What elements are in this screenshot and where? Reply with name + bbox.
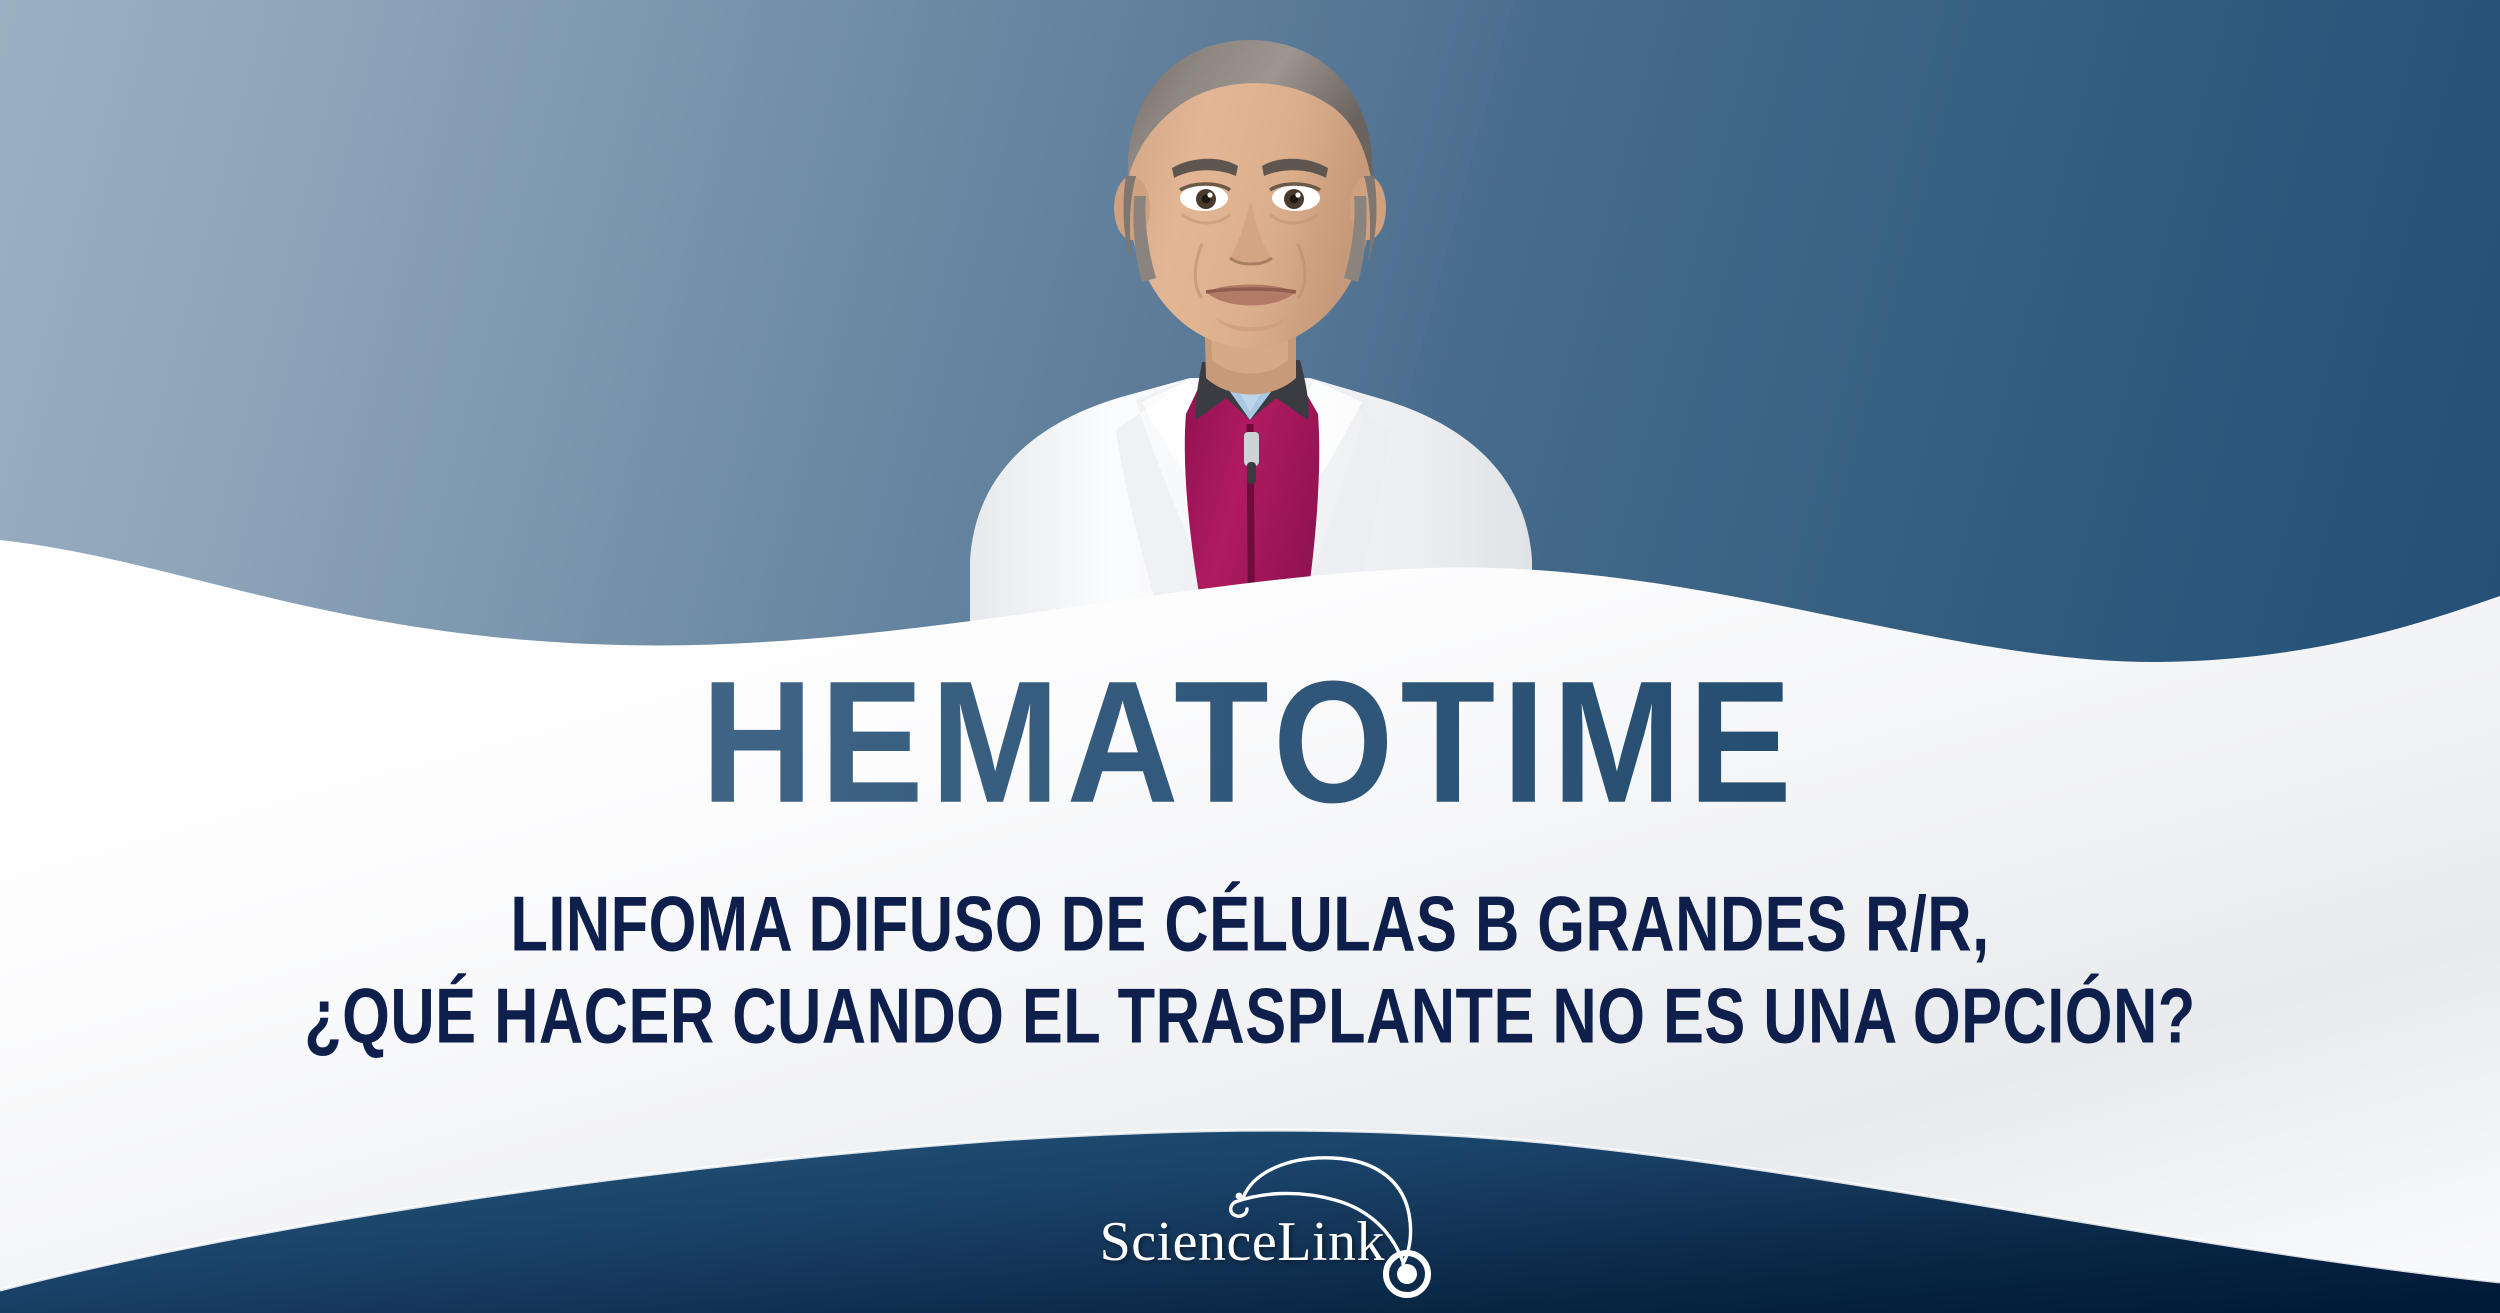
title-block: HEMATOTIME LINFOMA DIFUSO DE CÉLULAS B G… bbox=[0, 655, 2500, 1024]
physician-portrait bbox=[930, 0, 1570, 680]
episode-subtitle: LINFOMA DIFUSO DE CÉLULAS B GRANDES R/R,… bbox=[88, 810, 2413, 1062]
subtitle-line-1: LINFOMA DIFUSO DE CÉLULAS B GRANDES R/R, bbox=[88, 878, 2413, 970]
subtitle-line-2: ¿QUÉ HACER CUANDO EL TRASPLANTE NO ES UN… bbox=[88, 970, 2413, 1062]
sciencelink-logo[interactable]: ScienceLink bbox=[1085, 1158, 1485, 1308]
poster-canvas: HEMATOTIME LINFOMA DIFUSO DE CÉLULAS B G… bbox=[0, 0, 2500, 1313]
brand-title: HEMATOTIME bbox=[0, 655, 2500, 829]
stethoscope-icon bbox=[1227, 1152, 1487, 1302]
